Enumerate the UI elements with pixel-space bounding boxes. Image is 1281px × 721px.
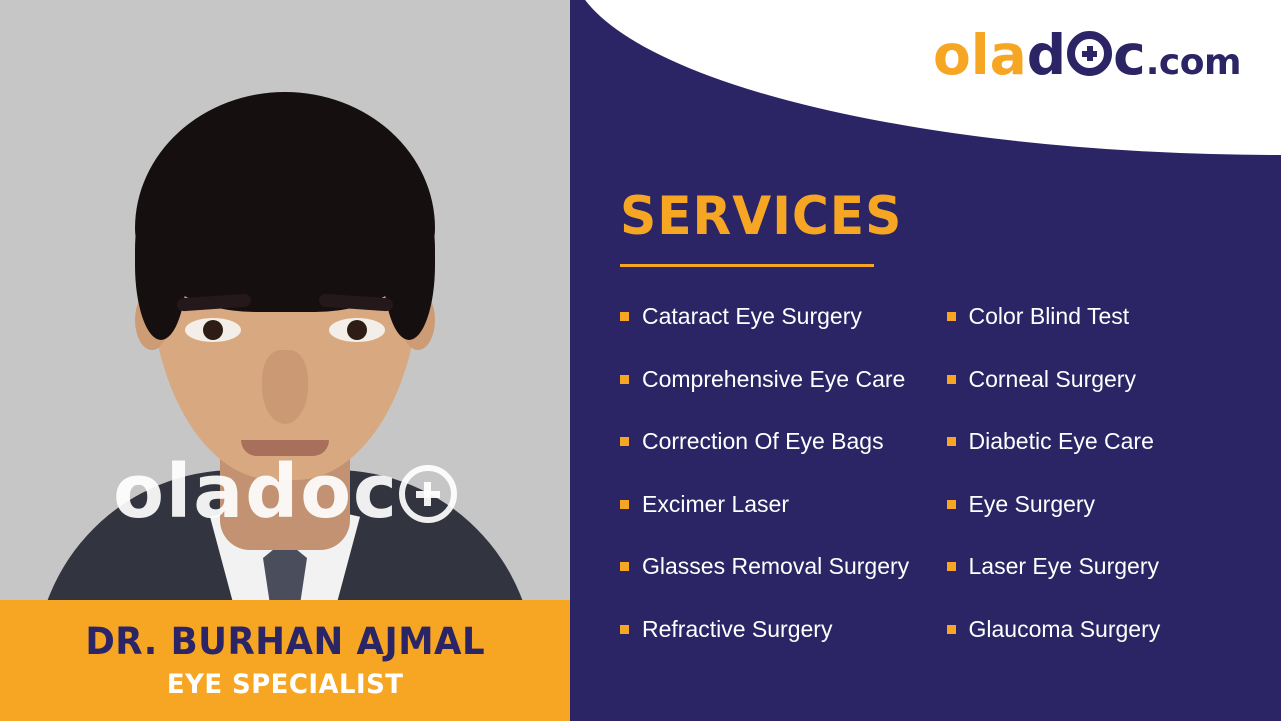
service-item[interactable]: Correction Of Eye Bags [620,430,939,493]
service-item[interactable]: Glaucoma Surgery [947,618,1266,681]
services-heading: SERVICES [620,190,902,243]
service-label: Color Blind Test [969,305,1130,328]
logo-text-d: d [1027,23,1066,87]
services-column-right: Color Blind Test Corneal Surgery Diabeti… [939,305,1266,680]
photo-watermark-text: oladoc [113,449,399,535]
doctor-photo-panel: oladoc DR. BURHAN AJMAL EYE SPECIALIST [0,0,570,721]
portrait-eye-left [185,318,241,342]
service-label: Excimer Laser [642,493,789,516]
logo-text-dotcom: .com [1146,42,1241,83]
services-column-left: Cataract Eye Surgery Comprehensive Eye C… [620,305,939,680]
bullet-square-icon [947,625,956,634]
service-label: Refractive Surgery [642,618,832,641]
photo-watermark: oladoc [0,455,570,529]
services-heading-underline [620,264,874,267]
doctor-portrait-image: oladoc [0,0,570,600]
bullet-square-icon [947,562,956,571]
bullet-square-icon [620,375,629,384]
portrait-eye-right [329,318,385,342]
portrait-pupil-left [203,320,223,340]
bullet-square-icon [947,375,956,384]
bullet-square-icon [947,312,956,321]
name-plate: DR. BURHAN AJMAL EYE SPECIALIST [0,600,570,721]
service-item[interactable]: Glasses Removal Surgery [620,555,939,618]
portrait-nose [262,350,308,424]
service-label: Glasses Removal Surgery [642,555,909,578]
services-panel: oladc.com SERVICES Cataract Eye Surgery … [570,0,1281,721]
bullet-square-icon [947,437,956,446]
oladoc-logo[interactable]: oladc.com [933,28,1241,83]
service-label: Correction Of Eye Bags [642,430,884,453]
portrait-hair-side-left [135,190,187,340]
service-item[interactable]: Color Blind Test [947,305,1266,368]
bullet-square-icon [947,500,956,509]
service-item[interactable]: Corneal Surgery [947,368,1266,431]
service-item[interactable]: Excimer Laser [620,493,939,556]
logo-cross-o-icon [1067,31,1112,76]
service-label: Laser Eye Surgery [969,555,1159,578]
bullet-square-icon [620,500,629,509]
services-list: Cataract Eye Surgery Comprehensive Eye C… [620,305,1265,680]
bullet-square-icon [620,312,629,321]
doctor-specialty: EYE SPECIALIST [167,671,404,698]
bullet-square-icon [620,437,629,446]
service-label: Comprehensive Eye Care [642,368,905,391]
portrait-hair-side-right [383,190,435,340]
service-label: Diabetic Eye Care [969,430,1154,453]
service-label: Corneal Surgery [969,368,1136,391]
bullet-square-icon [620,625,629,634]
logo-text-c: c [1113,23,1146,87]
watermark-cross-o-icon [399,465,457,523]
service-item[interactable]: Comprehensive Eye Care [620,368,939,431]
service-item[interactable]: Refractive Surgery [620,618,939,681]
logo-text-ola: ola [933,23,1027,87]
service-label: Eye Surgery [969,493,1096,516]
service-item[interactable]: Diabetic Eye Care [947,430,1266,493]
bullet-square-icon [620,562,629,571]
doctor-name: DR. BURHAN AJMAL [85,623,485,662]
service-item[interactable]: Cataract Eye Surgery [620,305,939,368]
service-item[interactable]: Eye Surgery [947,493,1266,556]
service-item[interactable]: Laser Eye Surgery [947,555,1266,618]
promo-card: oladoc DR. BURHAN AJMAL EYE SPECIALIST o… [0,0,1281,721]
portrait-pupil-right [347,320,367,340]
service-label: Cataract Eye Surgery [642,305,862,328]
service-label: Glaucoma Surgery [969,618,1161,641]
